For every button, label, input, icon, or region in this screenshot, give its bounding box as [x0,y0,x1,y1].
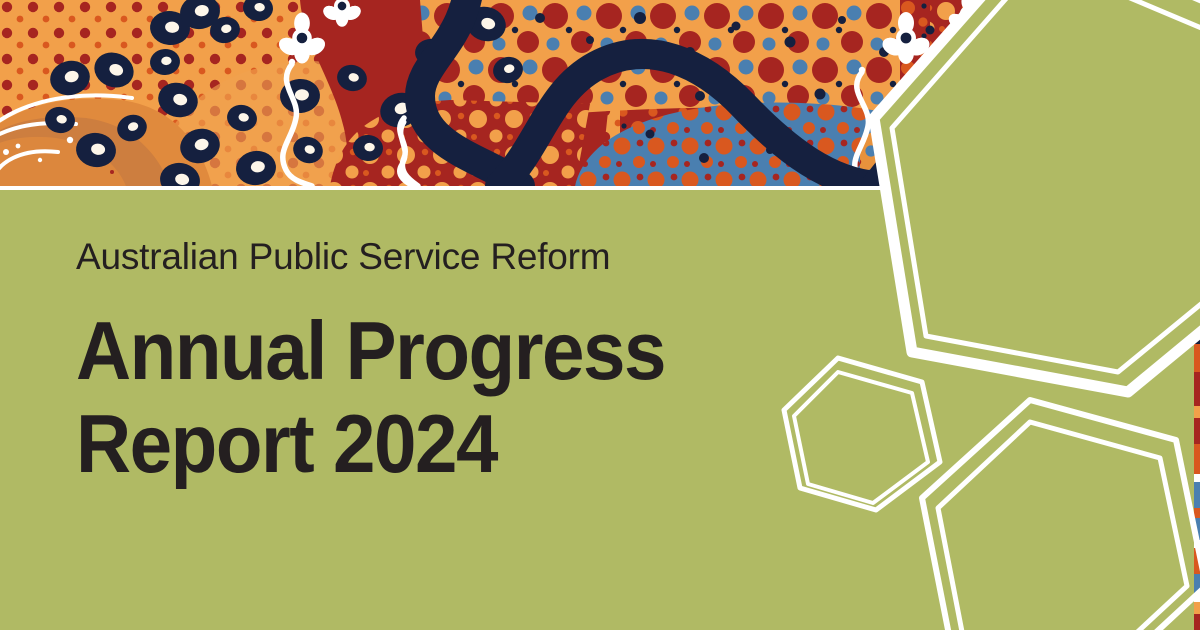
hexagon-large-bottom-right [922,400,1200,630]
report-cover: Australian Public Service Reform Annual … [0,0,1200,630]
artwork-band [0,0,1200,186]
cover-headline: Annual Progress Report 2024 [76,277,775,491]
band-divider-rule [0,186,1200,190]
cover-eyebrow: Australian Public Service Reform [76,236,836,277]
artwork-edge-strip [1194,320,1200,630]
cover-text-block: Australian Public Service Reform Annual … [76,236,836,491]
